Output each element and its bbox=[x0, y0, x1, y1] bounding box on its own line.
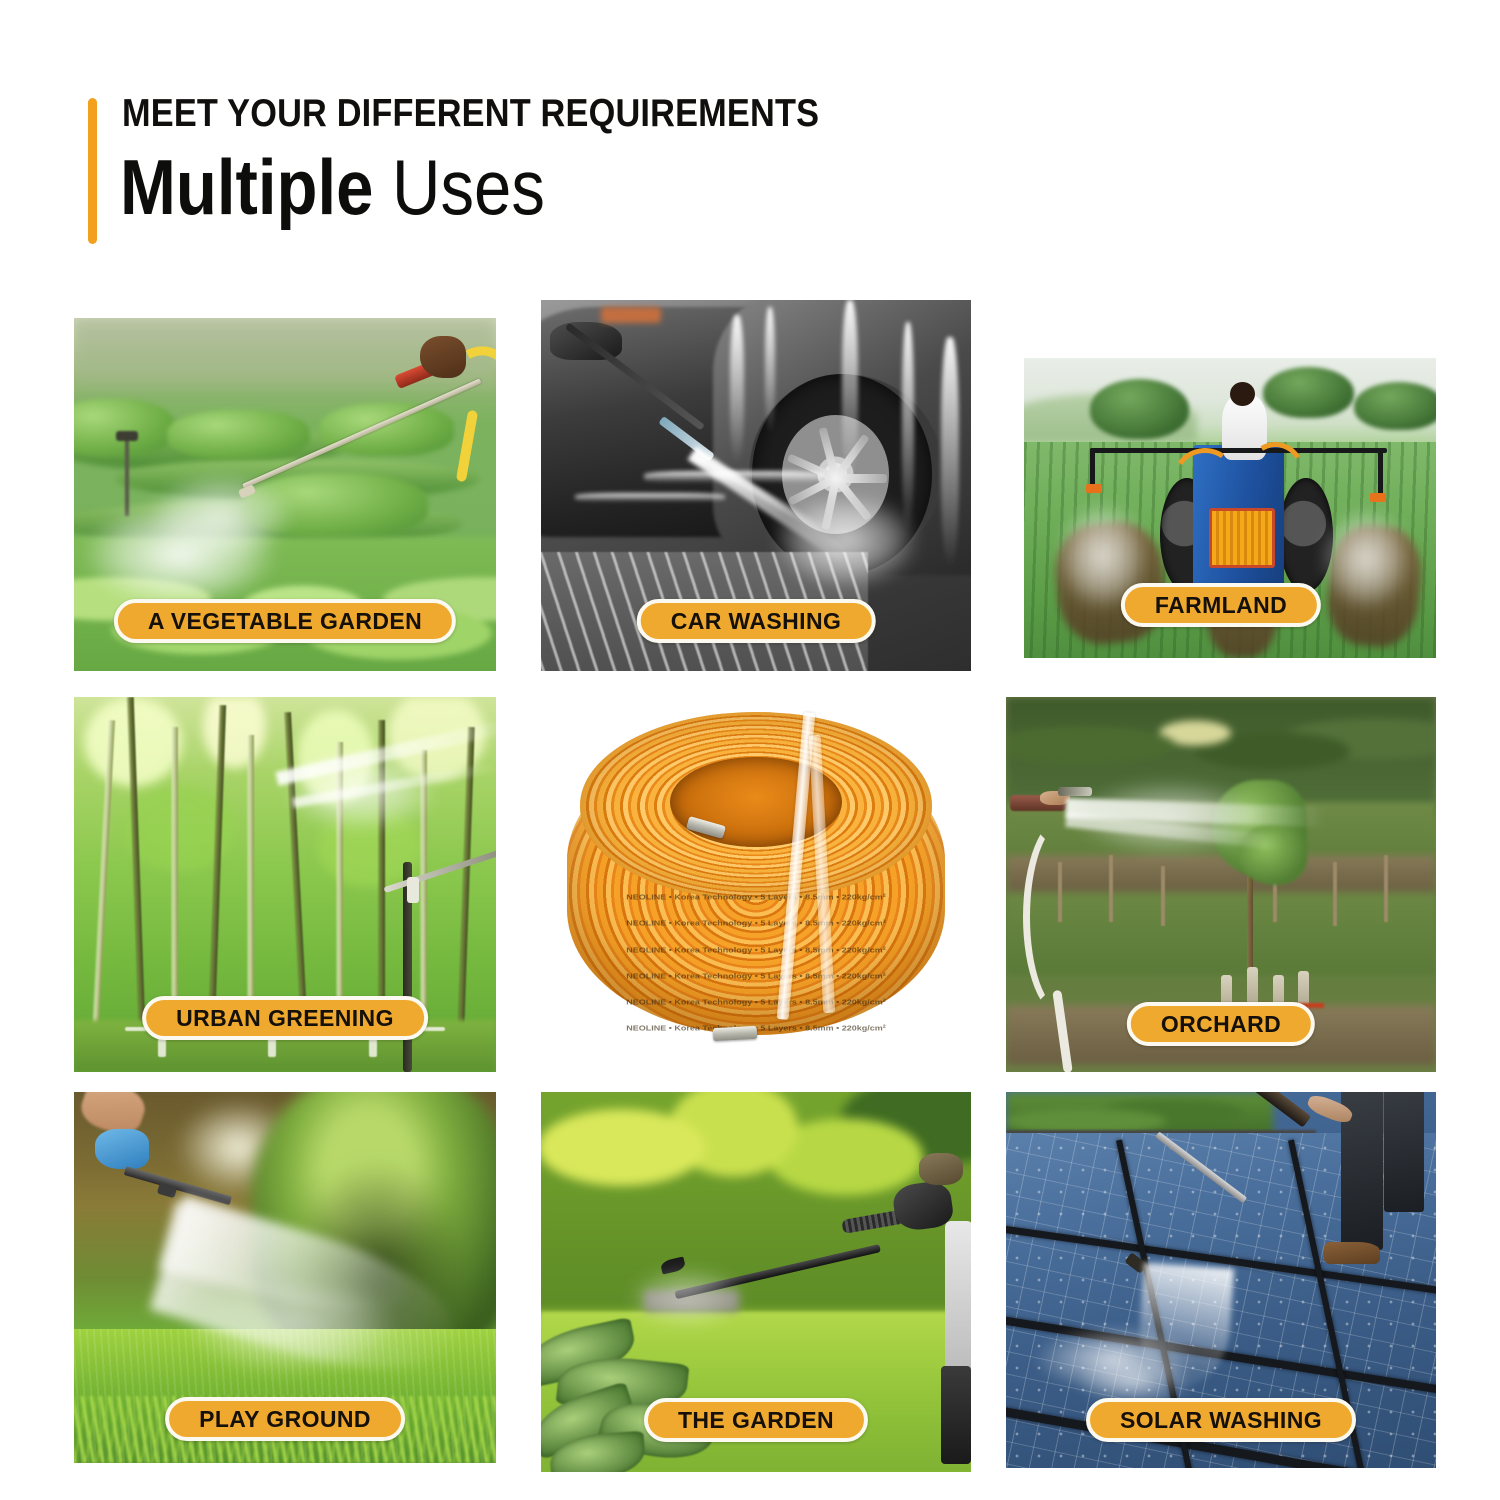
tile-label-car-washing: CAR WASHING bbox=[637, 599, 876, 643]
headline-strong: Multiple bbox=[120, 143, 373, 231]
hose-print-1: NEOLINE • Korea Technology • 5 Layers • … bbox=[541, 893, 971, 902]
tile-label-urban-greening: URBAN GREENING bbox=[142, 996, 428, 1040]
tile-farmland[interactable]: FARMLAND bbox=[1006, 300, 1436, 671]
photo-hose-coil: NEOLINE • Korea Technology • 5 Layers • … bbox=[541, 697, 971, 1072]
hose-print-2: NEOLINE • Korea Technology • 5 Layers • … bbox=[541, 919, 971, 928]
tile-label-orchard: ORCHARD bbox=[1127, 1002, 1315, 1046]
tile-the-garden[interactable]: THE GARDEN bbox=[541, 1092, 971, 1472]
page-header: MEET YOUR DIFFERENT REQUIREMENTS Multipl… bbox=[88, 92, 1288, 252]
tile-label-vegetable-garden: A VEGETABLE GARDEN bbox=[114, 599, 456, 643]
tile-car-washing[interactable]: CAR WASHING bbox=[541, 300, 971, 671]
tile-label-solar-washing: SOLAR WASHING bbox=[1086, 1398, 1356, 1442]
tile-vegetable-garden[interactable]: A VEGETABLE GARDEN bbox=[74, 318, 496, 671]
marketing-page: MEET YOUR DIFFERENT REQUIREMENTS Multipl… bbox=[0, 0, 1500, 1500]
tile-urban-greening[interactable]: URBAN GREENING bbox=[74, 697, 496, 1072]
headline-light: Uses bbox=[392, 143, 545, 231]
tile-label-farmland: FARMLAND bbox=[1121, 583, 1321, 627]
tile-label-the-garden: THE GARDEN bbox=[644, 1398, 868, 1442]
hose-print-4: NEOLINE • Korea Technology • 5 Layers • … bbox=[541, 972, 971, 981]
tile-play-ground[interactable]: PLAY GROUND bbox=[74, 1092, 496, 1463]
page-title: Multiple Uses bbox=[120, 148, 545, 226]
product-image-hose-coil[interactable]: NEOLINE • Korea Technology • 5 Layers • … bbox=[541, 697, 971, 1072]
hose-print-3: NEOLINE • Korea Technology • 5 Layers • … bbox=[541, 945, 971, 954]
tile-orchard[interactable]: ORCHARD bbox=[1006, 697, 1436, 1072]
tile-label-play-ground: PLAY GROUND bbox=[165, 1397, 405, 1441]
hose-print-5: NEOLINE • Korea Technology • 5 Layers • … bbox=[541, 998, 971, 1007]
tile-solar-washing[interactable]: SOLAR WASHING bbox=[1006, 1092, 1436, 1468]
header-eyebrow: MEET YOUR DIFFERENT REQUIREMENTS bbox=[122, 92, 819, 136]
accent-bar bbox=[88, 98, 97, 244]
